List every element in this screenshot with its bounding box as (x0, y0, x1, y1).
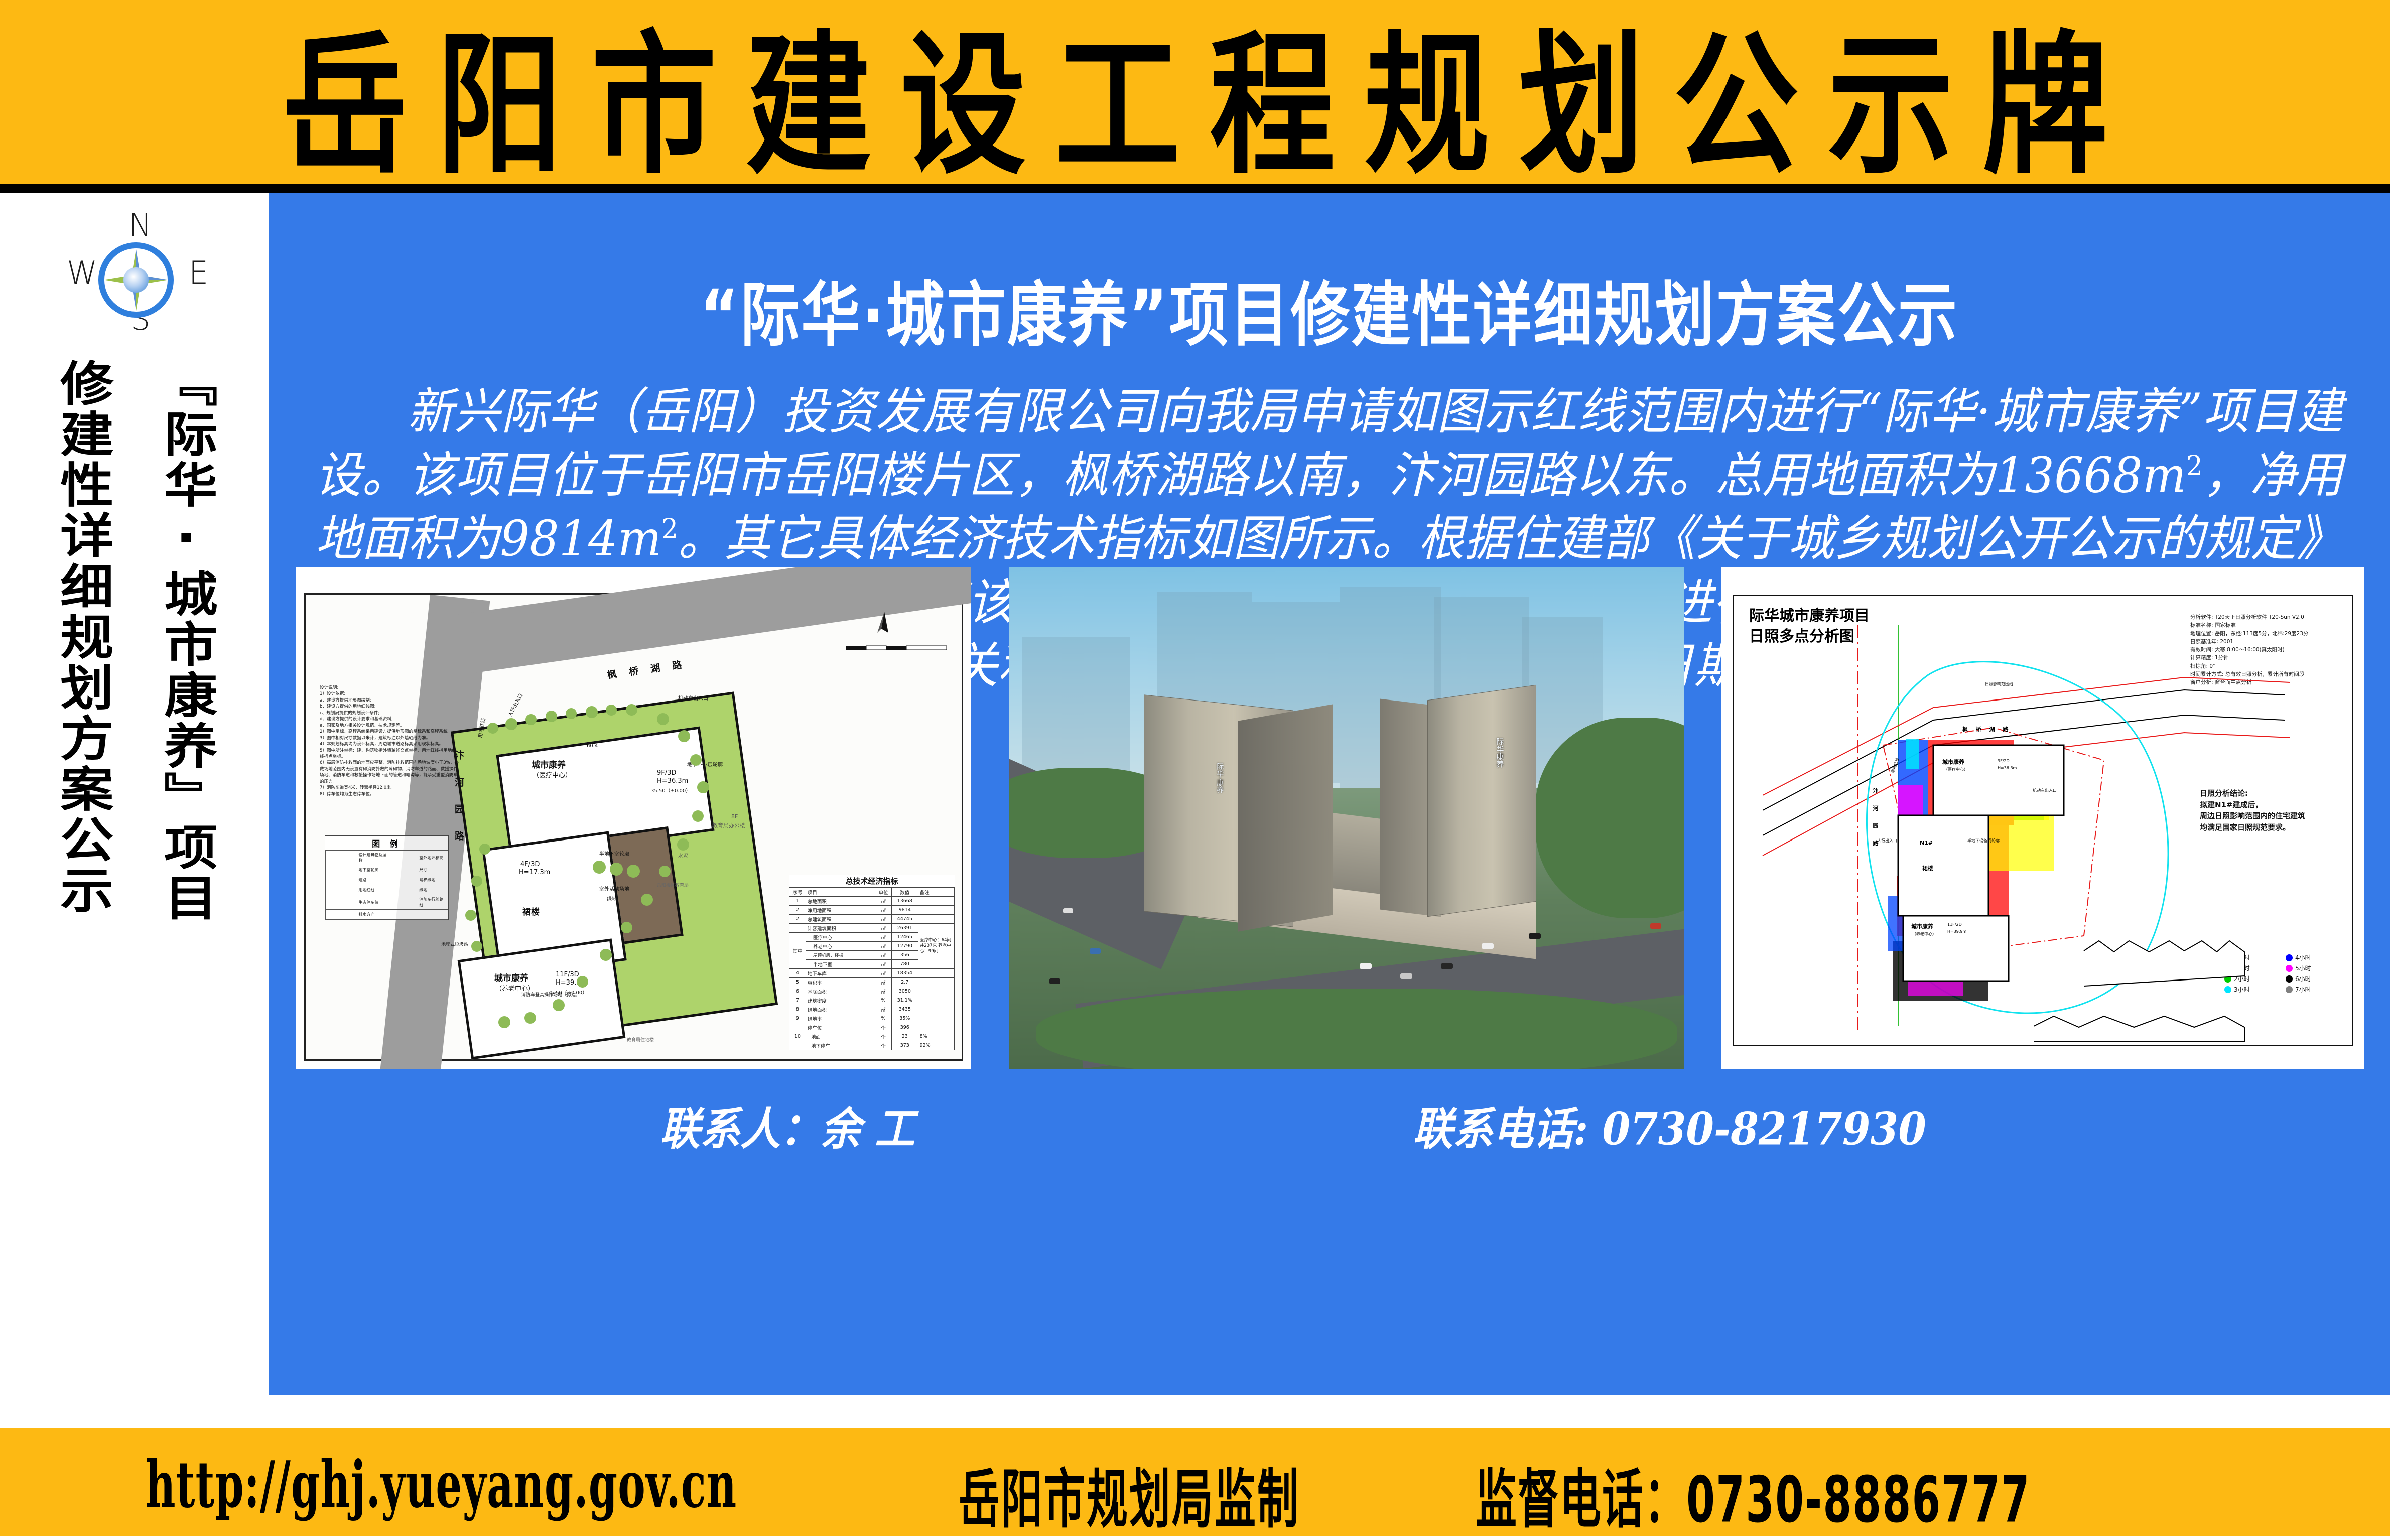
design-note: 7）消防车道宽4米，转弯半径12.0米。 (320, 785, 460, 791)
cell-unit: ㎡ (875, 978, 892, 987)
site-plan-road-label-north: 枫 桥 湖 路 (606, 657, 687, 681)
legend-item: 绿地 (418, 885, 448, 895)
site-plan-label-podium-floors: 4F/3D (520, 861, 540, 868)
rendering-car (1650, 923, 1661, 929)
cell-note (918, 1023, 954, 1032)
site-plan-tree (692, 810, 704, 822)
cell-item: 半地下室 (806, 960, 875, 969)
cell-unit: ㎡ (875, 942, 892, 951)
site-plan-tree (586, 706, 598, 718)
cell-value: 2.7 (891, 978, 918, 987)
footer-website-url[interactable]: http://ghj.yueyang.gov.cn (146, 1448, 737, 1522)
site-plan-anno-edu-bureau: 岳阳楼区教育局 (657, 882, 689, 888)
sunlight-label-vehicle-entrance: 机动车出入口 (2033, 788, 2057, 793)
rendering-car (1063, 908, 1073, 913)
rendering-tower-medical-side (1238, 704, 1333, 931)
site-plan-tree (690, 754, 702, 766)
site-plan-label-elderly-floors: 11F/3D (556, 971, 579, 978)
compass-rose-icon: N S W E (54, 203, 220, 354)
page-title: 岳阳市建设工程规划公示牌 (0, 0, 2390, 192)
cell-item: 建筑密度 (806, 996, 875, 1005)
site-plan-legend: 图 例 设计建筑物及层数 室外地坪标高 地下室轮廓 尺寸 道路 阶梯绿地 用地红… (325, 835, 449, 920)
cell-unit: 个 (875, 1041, 892, 1050)
cell-no: 2 (789, 906, 806, 915)
sunlight-label-elderly-name: 城市康养 (1911, 922, 1933, 930)
rendering-tower-elderly (1427, 685, 1536, 917)
cell-unit: 个 (875, 1023, 892, 1032)
compass-west-label: W (67, 257, 97, 289)
th-note: 备注 (918, 888, 954, 897)
site-plan-label-podium-height: H=17.3m (519, 869, 550, 876)
table-row: 地下停车个37392% (789, 1041, 955, 1050)
site-plan-tree (659, 866, 671, 877)
th-item: 项目 (806, 888, 875, 897)
site-plan-anno-edu-office: 教育局办公楼 (712, 821, 745, 829)
cell-no: 4 (789, 969, 806, 978)
table-row: 9绿地率%35% (789, 1014, 955, 1023)
site-plan-label-elderly-name: 城市康养 (494, 971, 528, 984)
site-plan-tree (678, 730, 690, 742)
compass-north-label: N (128, 210, 152, 241)
cell-item: 绿地面积 (806, 1005, 875, 1014)
site-plan-label-medical-sub: （医疗中心） (533, 770, 572, 779)
site-plan-tree (677, 838, 689, 851)
site-plan-tree (524, 1012, 536, 1024)
site-plan-anno-garbage: 地埋式垃圾站 (441, 941, 468, 947)
legend-item: 设计建筑物及层数 (357, 851, 391, 865)
cell-value: 3435 (891, 1005, 918, 1014)
th-value: 数值 (891, 888, 918, 897)
site-plan-anno-outdoor: 室外活动场地 (599, 885, 629, 892)
cell-note: 8% (918, 1032, 954, 1041)
sidebar-vertical-titles: 修建性详细规划方案公示 『际华·城市康养』项目 (0, 359, 269, 1111)
sidebar-vertical-title-2: 『际华·城市康养』项目 (159, 359, 212, 924)
sunlight-label-medical-name: 城市康养 (1942, 758, 1964, 766)
design-note: c、规划局提供的规划设计条件; (320, 710, 460, 716)
table-row: 地面个238% (789, 1032, 955, 1041)
cell-no: 7 (789, 996, 806, 1005)
table-header-row: 序号 项目 单位 数值 备注 (789, 888, 955, 897)
compass-east-label: E (189, 257, 208, 289)
cell-item: 地下停车 (806, 1041, 875, 1050)
site-plan-tree (566, 708, 577, 719)
cell-unit: ㎡ (875, 933, 892, 942)
sunlight-label-medical-height: H=36.3m (1998, 766, 2017, 770)
design-note: a、建设方提供地形图绘制; (320, 697, 460, 704)
superscript-2: 2 (661, 514, 678, 546)
table-row: 5容积率㎡2.7 (789, 978, 955, 987)
site-plan-label-medical-height: H=36.3m (657, 777, 688, 785)
design-notes-title: 设计说明: (320, 685, 460, 691)
rendering-car (1441, 963, 1453, 969)
site-plan-tree (465, 910, 476, 921)
table-row: 6基底面积㎡3050 (789, 987, 955, 996)
sunlight-label-impact-line: 日照影响范围线 (1985, 681, 2013, 687)
site-plan-label-medical-name: 城市康养 (532, 758, 566, 770)
table-row: 8绿地面积㎡3435 (789, 1005, 955, 1014)
site-plan-scale-bar (846, 645, 947, 651)
legend-item: 道路 (357, 875, 391, 885)
cell-note (918, 915, 954, 924)
table-row: 4地下车库㎡18354 (789, 969, 955, 978)
sunlight-label-medical-floors: 9F/2D (1998, 759, 2010, 763)
cell-unit: ㎡ (875, 969, 892, 978)
th-no: 序号 (789, 888, 806, 897)
site-plan-tree (657, 713, 669, 725)
site-plan-frame: 城市康养 （医疗中心） 9F/3D H=36.3m 35.50（±0.00） 6… (304, 593, 963, 1061)
legend-item: 排水方向 (357, 910, 391, 920)
cell-no: 8 (789, 1005, 806, 1014)
site-plan-tree (553, 999, 565, 1011)
design-note: 1）设计依据: (320, 691, 460, 697)
site-plan-design-notes: 设计说明: 1）设计依据: a、建设方提供地形图绘制; b、建设方提供的用地红线… (320, 685, 460, 797)
table-row: 7建筑密度%31.1% (789, 996, 955, 1005)
site-plan-tree (606, 705, 617, 716)
cell-note: 医疗中心：64间共237床 养老中心：99间 (918, 924, 954, 969)
rendering-car (1529, 933, 1541, 939)
cell-note (918, 906, 954, 915)
cell-no: 1 (789, 897, 806, 906)
site-plan-tree (471, 876, 482, 887)
cell-note (918, 978, 954, 987)
footer-supervise-phone: 监督电话：0730-8886777 (1476, 1448, 2031, 1540)
cell-item: 养老中心 (806, 942, 875, 951)
rendering-background-building (1022, 637, 1130, 788)
cell-value: 373 (891, 1041, 918, 1050)
notice-title: “际华·城市康养”项目修建性详细规划方案公示 (269, 258, 2390, 360)
site-plan-tree (697, 781, 709, 793)
site-plan-tree (498, 1016, 510, 1028)
cell-unit: ㎡ (875, 906, 892, 915)
cell-value: 9814 (891, 906, 918, 915)
cell-item: 容积率 (806, 978, 875, 987)
cell-value: 44745 (891, 915, 918, 924)
site-plan-tree (621, 922, 632, 933)
rendering-canvas: 际华·康养 际华康养 (1009, 567, 1684, 1069)
sunlight-label-podium: 裙楼 (1922, 864, 1933, 872)
rendering-tree-band (1036, 989, 1677, 1069)
legend-item: 消防车行驶路线 (418, 895, 448, 910)
cell-note (918, 996, 954, 1005)
site-plan-tree (610, 863, 623, 876)
cell-unit: % (875, 996, 892, 1005)
site-plan-anno-concrete: 水泥 (678, 852, 688, 859)
cell-item: 屋顶机房、楼梯 (806, 951, 875, 960)
legend-item (418, 910, 448, 920)
cell-item: 总地面积 (806, 897, 875, 906)
sunlight-label-semi-basement: 半地下设备间轮廓 (1967, 838, 2000, 844)
design-note: 5）图中所注坐标：建、构筑物指外墙轴线交点坐标，用地红线指用地红线折点坐标。 (320, 748, 460, 760)
site-plan-tree (600, 949, 612, 961)
cell-note (918, 1014, 954, 1023)
sunlight-road-label-north: 枫 桥 湖 路 (1962, 725, 2012, 733)
compass-star-icon (98, 242, 174, 318)
sunlight-label-ped-entrance: 人行出入口 (1877, 838, 1897, 844)
design-note: d、建设方提供的设计要求和基础资料; (320, 716, 460, 722)
design-note: b、建设方提供的用地红线图; (320, 704, 460, 710)
site-plan-tree (627, 865, 640, 878)
cell-no: 10 (789, 1023, 806, 1050)
site-plan-anno-ped-entrance: 人行出入口 (506, 692, 524, 718)
cell-item: 地下车库 (806, 969, 875, 978)
cell-no: 9 (789, 1014, 806, 1023)
legend-title: 图 例 (325, 836, 448, 850)
sidebar-vertical-title-1: 修建性详细规划方案公示 (55, 359, 108, 916)
cell-value: 23 (891, 1032, 918, 1041)
cell-item: 地面 (806, 1032, 875, 1041)
main-blue-panel: “际华·城市康养”项目修建性详细规划方案公示 新兴际华（岳阳）投资发展有限公司向… (269, 193, 2390, 1395)
cell-note (918, 969, 954, 978)
figure-sunlight-analysis[interactable]: 际华城市康养项目 日照多点分析图 分析软件: T20天正日照分析软件 T20-S… (1721, 567, 2364, 1069)
footer-banner: http://ghj.yueyang.gov.cn 岳阳市规划局监制 监督电话：… (0, 1428, 2390, 1536)
site-plan-anno-semi-basement: 半地下室轮廓 (599, 850, 629, 857)
legend-item: 用地红线 (357, 885, 391, 895)
cell-unit: 个 (875, 1032, 892, 1041)
site-plan-tree (505, 718, 517, 730)
public-notice-board: 岳阳市建设工程规划公示牌 N S W E (0, 0, 2390, 1536)
site-plan-anno-green: 绿地 (607, 895, 617, 902)
cell-value: 31.1% (891, 996, 918, 1005)
rendering-car (1360, 963, 1372, 969)
cell-item: 计容建筑面积 (806, 924, 875, 933)
design-note: 4）本规划标高均为设计标高，周边城市道路标高采用现状标高。 (320, 741, 460, 747)
footer-organization: 岳阳市规划局监制 (959, 1448, 1300, 1540)
legend-item: 阶梯绿地 (418, 875, 448, 885)
cell-unit: ㎡ (875, 924, 892, 933)
design-note: 2）图中坐标、高程系统采用建设方提供地形图的坐标系和高程系统。 (320, 729, 460, 735)
site-plan-label-medical-dim: 60.4 (587, 743, 598, 749)
cell-value: 356 (891, 951, 918, 960)
figure-row: 城市康养 （医疗中心） 9F/3D H=36.3m 35.50（±0.00） 6… (296, 567, 2364, 1069)
table-row: 1总地面积㎡13668 (789, 897, 955, 906)
contact-row: 联系人：余 工 联系电话: 0730-8217930 (269, 1096, 2390, 1157)
cell-item: 停车位 (806, 1023, 875, 1032)
cell-value: 35% (891, 1014, 918, 1023)
sunlight-label-elderly-height: H=39.9m (1947, 929, 1966, 934)
rendering-car (1400, 973, 1412, 979)
cell-value: 396 (891, 1023, 918, 1032)
cell-note: 92% (918, 1041, 954, 1050)
legend-item: 室外地坪标高 (418, 851, 448, 865)
figure-site-plan[interactable]: 城市康养 （医疗中心） 9F/3D H=36.3m 35.50（±0.00） 6… (296, 567, 971, 1069)
sunlight-label-elderly-sub: （养老中心） (1912, 931, 1936, 937)
site-plan-tree (593, 861, 606, 874)
cell-value: 12465 (891, 933, 918, 942)
table-row: 2总建筑面积㎡44745 (789, 915, 955, 924)
cell-unit: ㎡ (875, 897, 892, 906)
cell-unit: % (875, 1014, 892, 1023)
design-note: 6）高层消防扑救面的地面应平整，消防扑救范围内场地坡度小于3%，扑救场地范围内无… (320, 760, 460, 785)
cell-value: 13668 (891, 897, 918, 906)
cell-item: 绿地率 (806, 1014, 875, 1023)
figure-aerial-rendering[interactable]: 际华·康养 际华康养 (1009, 567, 1684, 1069)
sunlight-map-drawing (1733, 595, 2353, 1046)
cell-no (789, 924, 806, 933)
cell-unit: ㎡ (875, 960, 892, 969)
header-banner: 岳阳市建设工程规划公示牌 (0, 0, 2390, 184)
cell-note (918, 897, 954, 906)
site-plan-tree (525, 714, 537, 725)
cell-value: 3050 (891, 987, 918, 996)
design-note: 8）停车位均为生态停车位。 (320, 791, 460, 797)
table-row: 计容建筑面积㎡26391医疗中心：64间共237床 养老中心：99间 (789, 924, 955, 933)
cell-value: 18354 (891, 969, 918, 978)
indicator-table: 序号 项目 单位 数值 备注 1总地面积㎡13668 2净用地面积㎡9814 2… (789, 887, 955, 1050)
indicator-table-title: 总技术经济指标 (789, 875, 955, 887)
body-part-1: 新兴际华（岳阳）投资发展有限公司向我局申请如图示红线范围内进行“际华·城市康养”… (315, 383, 2343, 503)
cell-value: 12790 (891, 942, 918, 951)
sunlight-label-medical-sub: （医疗中心） (1944, 767, 1968, 772)
design-note: 3）图中相对尺寸数据以米计，建筑标注以外墙轴线为准。 (320, 735, 460, 741)
legend-table: 设计建筑物及层数 室外地坪标高 地下室轮廓 尺寸 道路 阶梯绿地 用地红线 绿地… (325, 850, 448, 920)
rendering-sign-right: 际华康养 (1495, 738, 1505, 768)
th-unit: 单位 (875, 888, 892, 897)
cell-unit: ㎡ (875, 951, 892, 960)
cell-unit: ㎡ (875, 987, 892, 996)
left-sidebar: N S W E (0, 193, 269, 1395)
legend-item: 生态停车位 (357, 895, 391, 910)
site-plan-indicator-table: 总技术经济指标 序号 项目 单位 数值 备注 1总地面积㎡13668 2净用地面… (789, 875, 955, 1050)
cell-no: 6 (789, 987, 806, 996)
cell-item: 基底面积 (806, 987, 875, 996)
contact-person: 联系人：余 工 (660, 1093, 915, 1158)
cell-no: 2 (789, 915, 806, 924)
cell-unit: ㎡ (875, 1005, 892, 1014)
site-plan-tree (641, 894, 653, 906)
table-row: 2净用地面积㎡9814 (789, 906, 955, 915)
unit-m-2: m (618, 510, 661, 567)
site-plan-anno-edu-housing: 教育局住宅楼 (627, 1036, 654, 1043)
site-plan-label-medical-elev: 35.50（±0.00） (651, 786, 691, 794)
site-plan-tree (577, 976, 588, 988)
unit-m-1: m (2143, 447, 2186, 503)
site-plan-tree (626, 704, 637, 716)
site-plan-tree (471, 941, 482, 952)
cell-unit: ㎡ (875, 915, 892, 924)
cell-item: 净用地面积 (806, 906, 875, 915)
site-plan-label-medical-floors: 9F/3D (657, 769, 676, 777)
cell-note (918, 1005, 954, 1014)
site-plan-anno-vehicle-entrance: 机动车出入口 (678, 694, 708, 702)
cell-value: 26391 (891, 924, 918, 933)
superscript-1: 2 (2186, 450, 2203, 482)
cell-item: 医疗中心 (806, 933, 875, 942)
header-divider (0, 184, 2390, 193)
sunlight-label-elderly-floors: 11F/2D (1947, 922, 1962, 927)
design-note: e、国家及地方相关设计规范、技术规定等。 (320, 723, 460, 729)
table-row: 10停车位个396 (789, 1023, 955, 1032)
sunlight-label-n1: N1# (1920, 839, 1933, 846)
cell-subgroup: 其中 (789, 933, 806, 969)
rendering-sign-left: 际华·康养 (1215, 763, 1225, 793)
cell-note (918, 987, 954, 996)
legend-item: 尺寸 (418, 865, 448, 875)
contact-phone: 联系电话: 0730-8217930 (1413, 1093, 1926, 1158)
site-plan-anno-8f: 8F (731, 813, 738, 820)
rendering-car (1482, 943, 1494, 949)
site-plan-label-podium-name: 裙楼 (522, 905, 540, 917)
cell-item: 总建筑面积 (806, 915, 875, 924)
cell-no: 5 (789, 978, 806, 987)
site-plan-tree (546, 711, 557, 722)
site-plan-tree (487, 723, 498, 734)
site-plan-anno-fire-platform: 消防车登高操作场地（拟建） (521, 991, 580, 998)
legend-item: 地下室轮廓 (357, 865, 391, 875)
rendering-car (1090, 948, 1101, 954)
site-plan-tree (479, 844, 490, 855)
cell-value: 780 (891, 960, 918, 969)
rendering-car (1049, 978, 1060, 984)
